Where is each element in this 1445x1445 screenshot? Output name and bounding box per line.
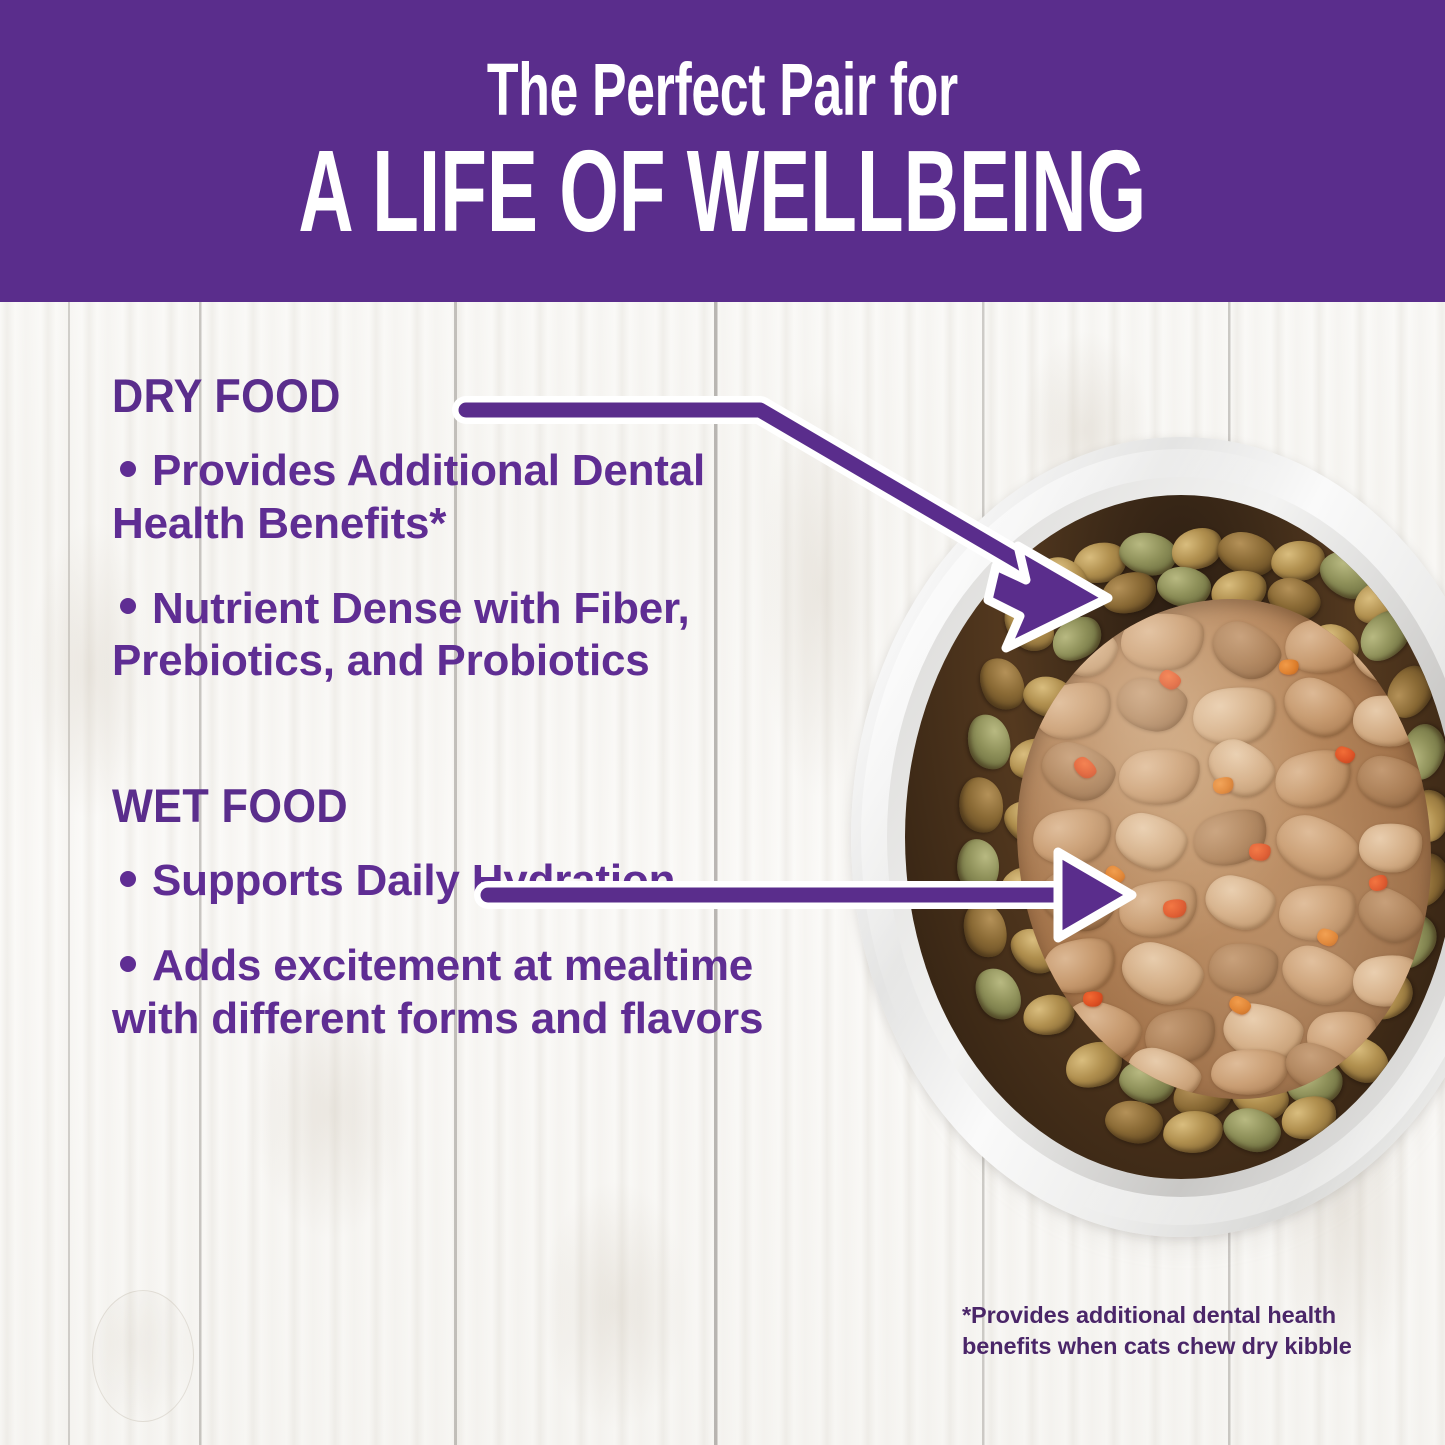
bullet-list-wet-food: Supports Daily Hydration Adds excitement… bbox=[112, 855, 772, 1045]
poster-canvas: The Perfect Pair for A LIFE OF WELLBEING bbox=[0, 0, 1445, 1445]
bullet-dot-icon bbox=[120, 461, 136, 477]
wet-food-gravy-pool bbox=[1017, 599, 1431, 1099]
bullet-text: Supports Daily Hydration bbox=[152, 856, 675, 905]
section-dry-food: DRY FOOD Provides Additional Dental Heal… bbox=[112, 372, 772, 688]
banner-title-line-2: A LIFE OF WELLBEING bbox=[299, 133, 1147, 249]
list-item: Supports Daily Hydration bbox=[112, 855, 772, 908]
bowl-cavity bbox=[905, 495, 1445, 1179]
bullet-text: Provides Additional Dental Health Benefi… bbox=[112, 446, 705, 548]
bullet-dot-icon bbox=[120, 598, 136, 614]
product-photo-bowl bbox=[851, 437, 1445, 1267]
footnote-line-1: *Provides additional dental health bbox=[962, 1300, 1372, 1331]
footnote-line-2: benefits when cats chew dry kibble bbox=[962, 1331, 1372, 1362]
bullet-list-dry-food: Provides Additional Dental Health Benefi… bbox=[112, 445, 772, 688]
bullet-dot-icon bbox=[120, 871, 136, 887]
banner-title-line-1: The Perfect Pair for bbox=[487, 53, 958, 127]
bullet-dot-icon bbox=[120, 956, 136, 972]
wood-knot bbox=[92, 1290, 194, 1422]
bullet-text: Nutrient Dense with Fiber, Prebiotics, a… bbox=[112, 584, 690, 686]
bullet-text: Adds excitement at mealtime with differe… bbox=[112, 941, 763, 1043]
list-item: Adds excitement at mealtime with differe… bbox=[112, 940, 772, 1046]
header-banner: The Perfect Pair for A LIFE OF WELLBEING bbox=[0, 0, 1445, 302]
gravy-sheen bbox=[1017, 599, 1431, 1099]
section-wet-food: WET FOOD Supports Daily Hydration Adds e… bbox=[112, 782, 772, 1045]
section-heading-wet-food: WET FOOD bbox=[112, 782, 719, 829]
benefits-copy-column: DRY FOOD Provides Additional Dental Heal… bbox=[112, 372, 772, 1046]
section-heading-dry-food: DRY FOOD bbox=[112, 372, 719, 419]
list-item: Provides Additional Dental Health Benefi… bbox=[112, 445, 772, 551]
footnote-disclaimer: *Provides additional dental health benef… bbox=[962, 1300, 1372, 1361]
list-item: Nutrient Dense with Fiber, Prebiotics, a… bbox=[112, 583, 772, 689]
